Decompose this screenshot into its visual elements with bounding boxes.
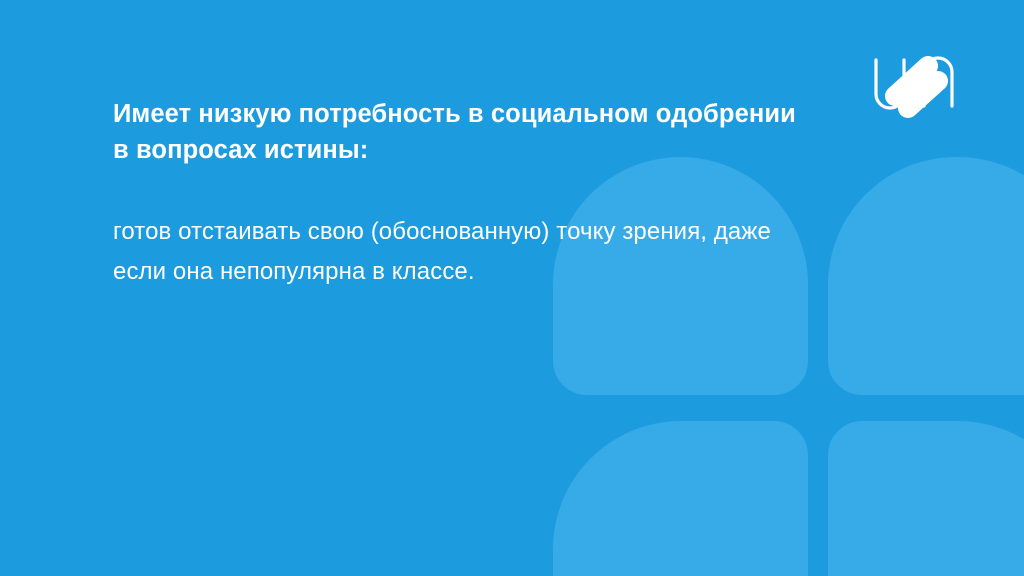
petal-top-right	[828, 157, 1024, 395]
petal-bottom-right	[828, 421, 1024, 576]
petal-bottom-left	[553, 421, 808, 576]
slide-text-block: Имеет низкую потребность в социальном од…	[113, 96, 813, 292]
slide-heading: Имеет низкую потребность в социальном од…	[113, 96, 813, 168]
slide-body-text: готов отстаивать свою (обоснованную) точ…	[113, 168, 813, 292]
slide-canvas: Имеет низкую потребность в социальном од…	[0, 0, 1024, 576]
brand-logo-icon	[868, 48, 960, 118]
